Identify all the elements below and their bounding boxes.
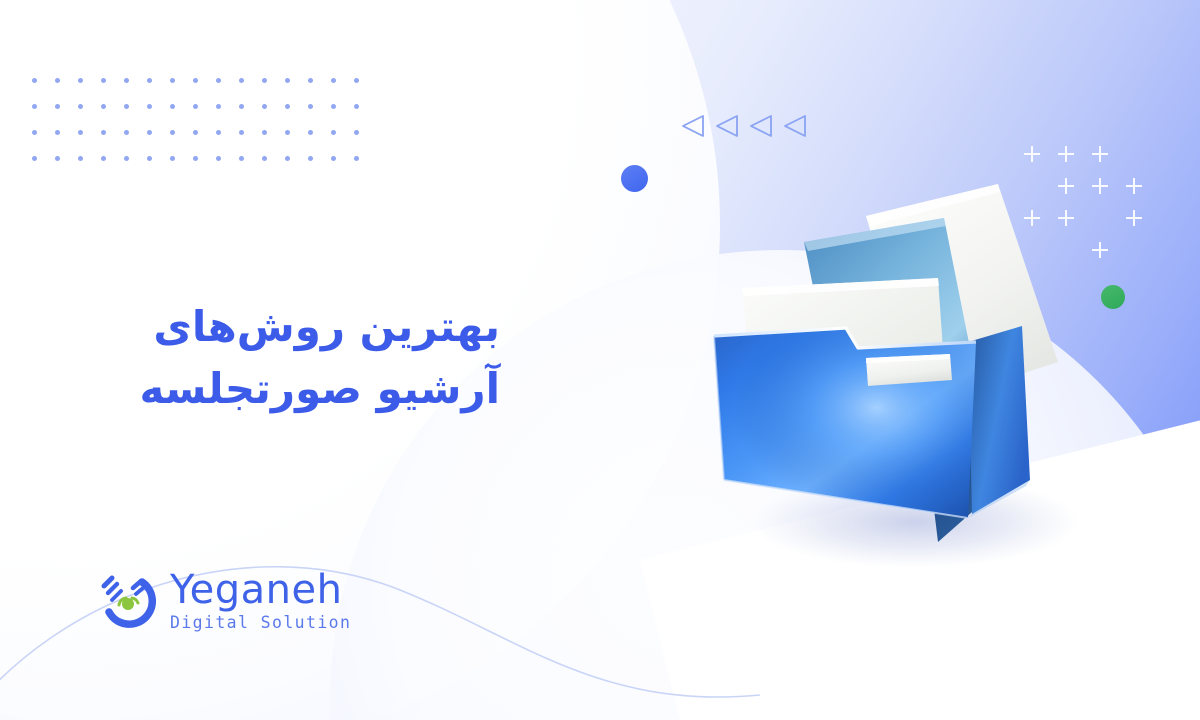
- headline-line-1: بهترین روش‌های: [120, 296, 500, 358]
- triangle-left-icon: [748, 113, 774, 139]
- folder-illustration: [700, 150, 1130, 570]
- banner-canvas: بهترین روش‌های آرشیو صورتجلسه: [0, 0, 1200, 720]
- triangle-left-icon: [782, 113, 808, 139]
- logo-wordmark: Yeganeh: [170, 570, 342, 611]
- headline-line-2: آرشیو صورتجلسه: [120, 358, 500, 420]
- accent-dot-blue: [621, 165, 648, 192]
- logo-text-block: Yeganeh Digital Solution: [170, 570, 351, 632]
- brand-logo[interactable]: Yeganeh Digital Solution: [98, 568, 351, 634]
- triangle-left-icon: [714, 113, 740, 139]
- headline: بهترین روش‌های آرشیو صورتجلسه: [120, 296, 500, 420]
- triangle-left-icon: [680, 113, 706, 139]
- logo-tagline: Digital Solution: [170, 614, 351, 632]
- yeganeh-logo-mark: [98, 568, 160, 634]
- decorative-triangle-row: [680, 113, 808, 139]
- decorative-dot-grid: [14, 78, 359, 182]
